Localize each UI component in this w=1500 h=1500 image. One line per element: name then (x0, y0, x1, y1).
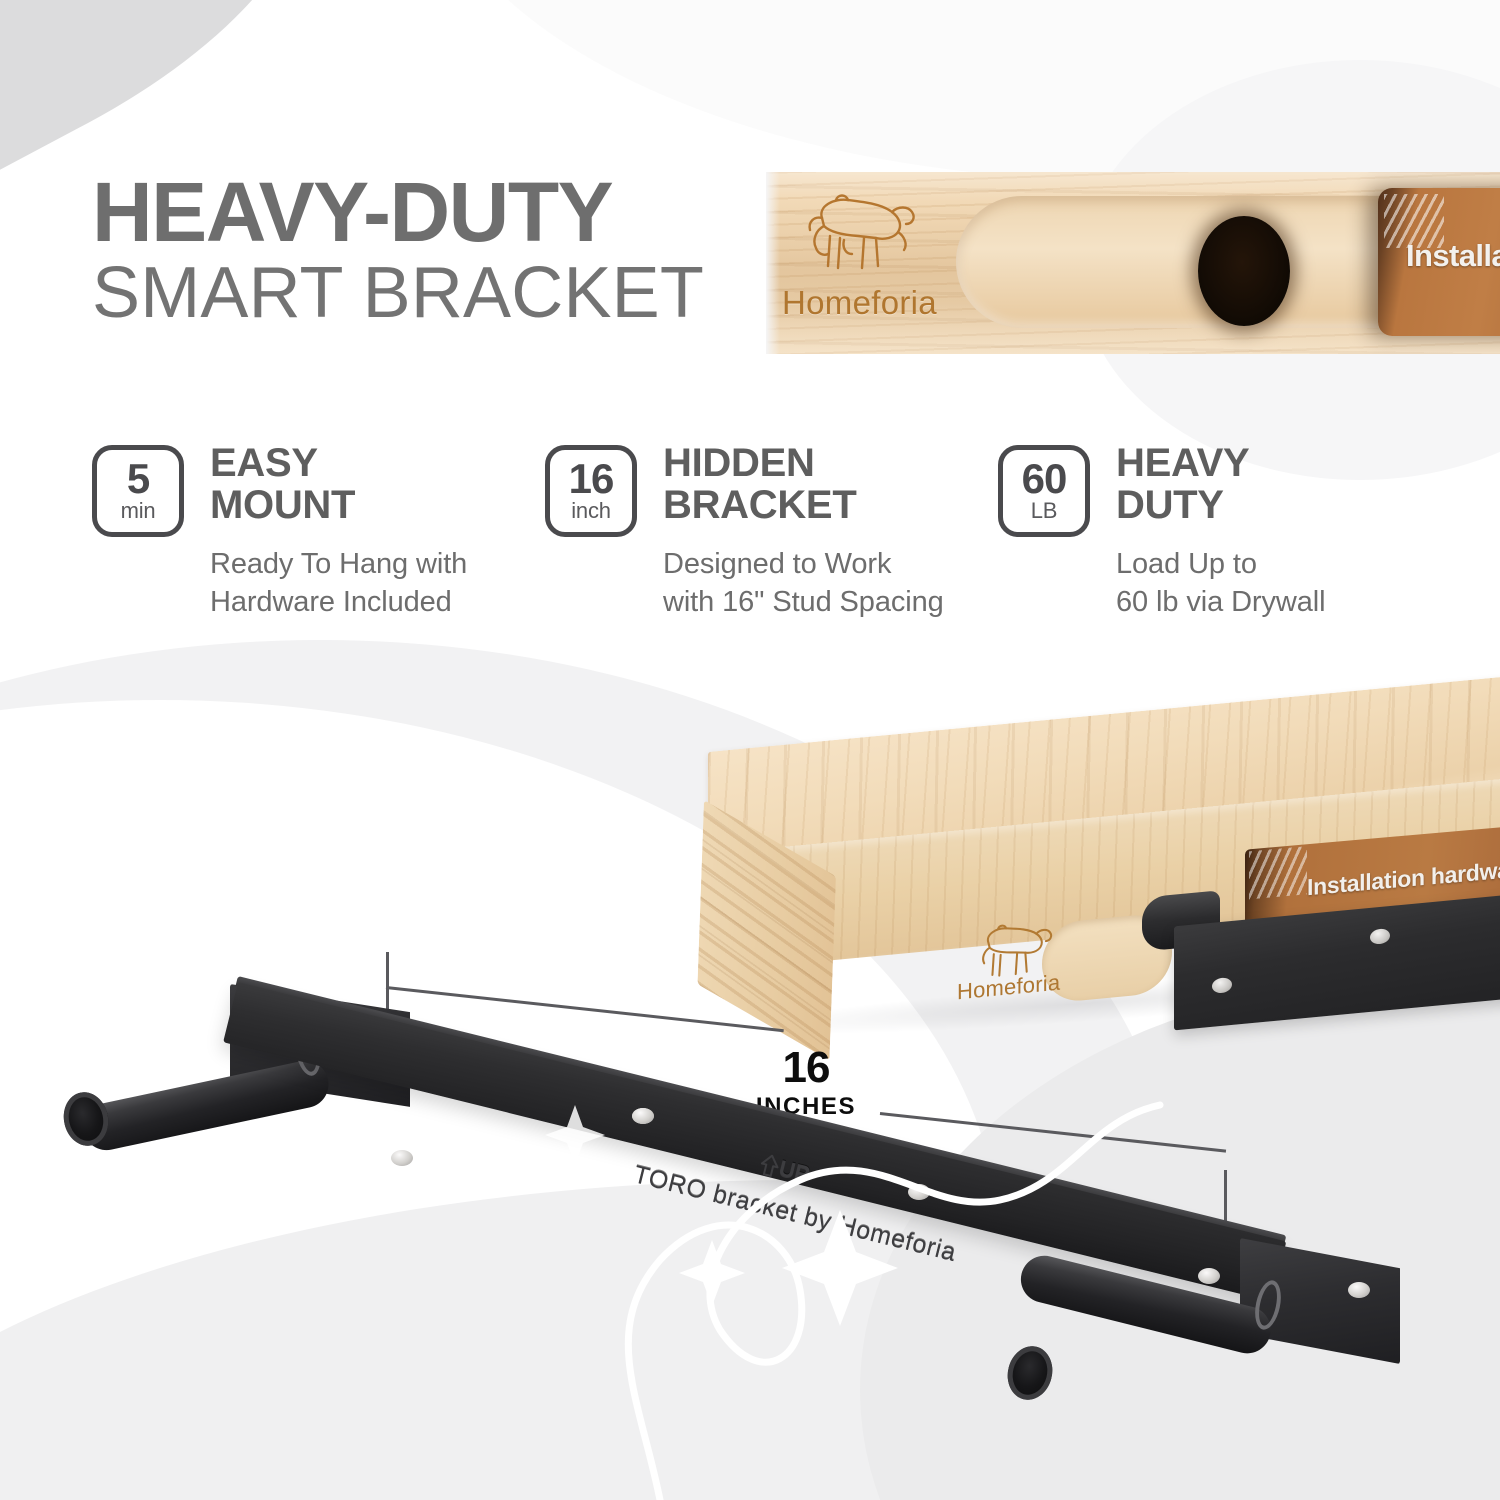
badge-unit: min (121, 499, 156, 522)
bg-corner-wedge-icon (0, 0, 353, 179)
feature-description: Designed to Work with 16" Stud Spacing (663, 545, 944, 622)
brand-name-text: Homeforia (782, 284, 937, 322)
rail-screw-hole (1198, 1268, 1220, 1284)
bison-logo-icon (788, 192, 928, 282)
box-shrinkwrap-shine (1249, 846, 1307, 899)
feature-title: HIDDEN BRACKET (663, 442, 944, 527)
feature-item-hidden-bracket: 16 inch HIDDEN BRACKET Designed to Work … (545, 440, 998, 621)
page-title: HEAVY-DUTY SMART BRACKET (92, 172, 772, 333)
feature-description: Ready To Hang with Hardware Included (210, 545, 467, 622)
bracket-hero-image: UP TORO bracket by Homeforia (0, 960, 1500, 1480)
plate-screw-hole (1348, 1282, 1370, 1298)
bracket-main-rail (223, 982, 1286, 1302)
badge-unit: LB (1031, 499, 1058, 522)
feature-title: EASY MOUNT (210, 442, 467, 527)
infographic-canvas: HEAVY-DUTY SMART BRACKET Homeforia (0, 0, 1500, 1500)
feature-text-block: HIDDEN BRACKET Designed to Work with 16"… (663, 440, 944, 621)
feature-item-easy-mount: 5 min EASY MOUNT Ready To Hang with Hard… (92, 440, 545, 621)
hardware-box-label: Installa (1406, 238, 1500, 274)
plate-screw-hole (1370, 928, 1390, 945)
rail-screw-hole (391, 1150, 413, 1166)
product-photo-detail: Homeforia Installa (766, 172, 1500, 354)
photo-left-fade (766, 172, 780, 354)
brand-logo: Homeforia (788, 192, 968, 322)
bg-sweep-top-secondary-icon (420, 0, 1500, 180)
rail-screw-hole (632, 1108, 654, 1124)
bracket-right-rod-cap (1002, 1341, 1058, 1404)
badge-unit: inch (571, 499, 611, 522)
feature-item-heavy-duty: 60 LB HEAVY DUTY Load Up to 60 lb via Dr… (998, 440, 1451, 621)
feature-text-block: HEAVY DUTY Load Up to 60 lb via Drywall (1116, 440, 1325, 621)
feature-list: 5 min EASY MOUNT Ready To Hang with Hard… (92, 440, 1452, 621)
bracket-left-rod (79, 1057, 333, 1155)
mounting-hole (1198, 216, 1290, 326)
badge-60-lb: 60 LB (998, 445, 1090, 537)
feature-description: Load Up to 60 lb via Drywall (1116, 545, 1325, 622)
badge-number: 60 (1022, 460, 1067, 499)
badge-5-min: 5 min (92, 445, 184, 537)
rail-screw-hole (908, 1184, 930, 1200)
feature-text-block: EASY MOUNT Ready To Hang with Hardware I… (210, 440, 467, 621)
feature-title: HEAVY DUTY (1116, 442, 1325, 527)
hardware-box-label: Installation hardware (1307, 855, 1500, 902)
badge-number: 5 (127, 460, 149, 499)
badge-number: 16 (569, 460, 614, 499)
page-title-line-2: SMART BRACKET (92, 253, 772, 334)
hardware-box: Installa (1378, 188, 1500, 336)
badge-16-inch: 16 inch (545, 445, 637, 537)
page-title-line-1: HEAVY-DUTY (92, 172, 772, 253)
